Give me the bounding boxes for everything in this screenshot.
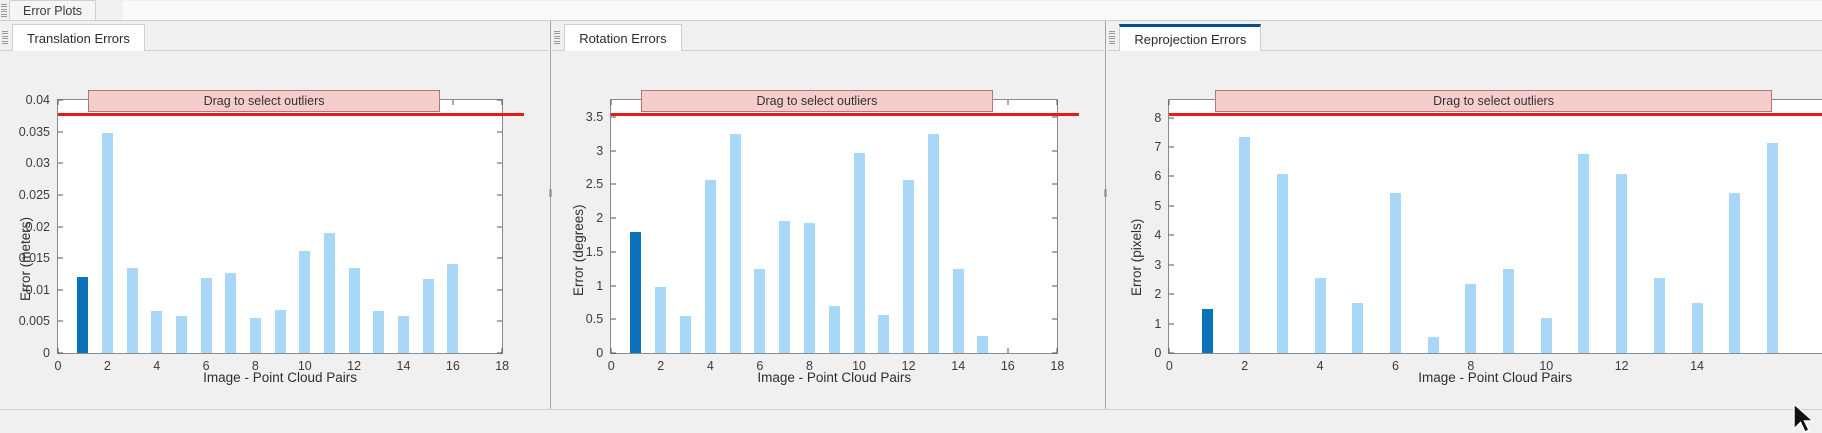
bar[interactable] — [423, 279, 434, 353]
bar[interactable] — [151, 311, 162, 353]
x-axis-label-translation: Image - Point Cloud Pairs — [57, 370, 503, 385]
bar[interactable] — [680, 316, 691, 353]
outlier-selector-band[interactable]: Drag to select outliers — [1215, 90, 1773, 112]
y-axis-tick-label: 0.03 — [26, 156, 58, 170]
outlier-selector-band[interactable]: Drag to select outliers — [88, 90, 441, 112]
outer-tab-empty-area — [123, 1, 1822, 22]
x-axis-tick-label: 12 — [902, 353, 916, 373]
y-axis-tick-label: 3.5 — [586, 110, 611, 124]
y-axis-tick-label: 0.035 — [19, 125, 58, 139]
bar[interactable] — [1654, 278, 1665, 353]
bar[interactable] — [1202, 309, 1213, 353]
tab-rotation-errors[interactable]: Rotation Errors — [564, 24, 681, 51]
tab-error-plots[interactable]: Error Plots — [9, 0, 96, 21]
bar-series — [58, 100, 502, 353]
bar[interactable] — [275, 310, 286, 353]
bar-series — [1169, 100, 1822, 353]
x-axis-tick-label: 6 — [1392, 353, 1399, 373]
y-axis-tick-label: 1 — [596, 279, 611, 293]
plot-area-reprojection[interactable]: 01234567802468101214Drag to select outli… — [1169, 100, 1822, 353]
bar[interactable] — [829, 306, 840, 353]
y-axis-tick-label: 7 — [1154, 140, 1169, 154]
bar[interactable] — [804, 223, 815, 353]
bar[interactable] — [1277, 174, 1288, 353]
outlier-threshold-line[interactable] — [611, 113, 1079, 116]
outlier-threshold-line[interactable] — [1169, 113, 1822, 116]
y-axis-tick-label: 0.5 — [586, 312, 611, 326]
bar[interactable] — [102, 133, 113, 353]
bar[interactable] — [250, 318, 261, 353]
bar[interactable] — [730, 134, 741, 353]
panel-2-drag-grip-icon[interactable] — [554, 31, 560, 44]
x-axis-tick-label: 6 — [756, 353, 763, 373]
bar[interactable] — [903, 180, 914, 353]
bar-series — [611, 100, 1057, 353]
y-axis-tick-label: 0.02 — [26, 220, 58, 234]
x-axis-tick-label: 10 — [852, 353, 866, 373]
bar[interactable] — [1692, 303, 1703, 353]
bar[interactable] — [299, 251, 310, 353]
x-axis-tick-label: 8 — [252, 353, 259, 373]
panel-1-tab-bar: Translation Errors — [0, 21, 549, 51]
tab-reprojection-errors[interactable]: Reprojection Errors — [1119, 24, 1261, 51]
tab-translation-errors-label: Translation Errors — [27, 31, 130, 46]
outlier-threshold-line[interactable] — [58, 113, 524, 116]
panel-drag-grip-icon[interactable] — [1, 4, 7, 17]
y-axis-label-rotation: Error (degrees) — [571, 204, 586, 296]
bar[interactable] — [1465, 284, 1476, 353]
panel-2-tab-bar: Rotation Errors — [552, 21, 1104, 51]
tab-rotation-errors-label: Rotation Errors — [579, 31, 666, 46]
outlier-selector-label: Drag to select outliers — [1433, 94, 1554, 108]
bar[interactable] — [854, 153, 865, 353]
x-axis-tick-label: 4 — [1317, 353, 1324, 373]
bar[interactable] — [655, 287, 666, 353]
x-axis-tick-label: 10 — [298, 353, 312, 373]
bar[interactable] — [447, 264, 458, 353]
y-axis-tick-label: 1 — [1154, 317, 1169, 331]
y-axis-tick-label: 0.01 — [26, 283, 58, 297]
panel-3-drag-grip-icon[interactable] — [1109, 31, 1115, 44]
y-axis-tick-label: 1.5 — [586, 245, 611, 259]
x-axis-tick-label: 14 — [397, 353, 411, 373]
y-axis-tick-label: 2 — [1154, 287, 1169, 301]
x-axis-tick-label: 16 — [446, 353, 460, 373]
panel-3-tab-bar: Reprojection Errors — [1107, 21, 1822, 51]
bar[interactable] — [225, 273, 236, 353]
x-axis-tick-label: 12 — [1615, 353, 1629, 373]
x-axis-tick-label: 0 — [55, 353, 62, 373]
bar[interactable] — [127, 268, 138, 353]
panel-1-drag-grip-icon[interactable] — [2, 31, 8, 44]
x-axis-tick-label: 2 — [1241, 353, 1248, 373]
x-axis-tick-label: 8 — [806, 353, 813, 373]
y-axis-tick-label: 0.005 — [19, 314, 58, 328]
x-axis-tick-label: 14 — [951, 353, 965, 373]
bar[interactable] — [977, 336, 988, 353]
bar[interactable] — [1239, 137, 1250, 353]
x-axis-tick-label: 14 — [1690, 353, 1704, 373]
bar[interactable] — [1767, 143, 1778, 353]
error-plots-window: Error Plots Translation Errors Error (me… — [0, 0, 1822, 430]
bar[interactable] — [201, 278, 212, 353]
bar[interactable] — [324, 233, 335, 353]
outlier-selector-label: Drag to select outliers — [204, 94, 325, 108]
x-axis-tick-label: 0 — [1166, 353, 1173, 373]
y-axis-tick-label: 3 — [1154, 258, 1169, 272]
bar[interactable] — [1729, 193, 1740, 353]
bar[interactable] — [878, 315, 889, 353]
figure-translation-errors: Error (meters) Image - Point Cloud Pairs… — [0, 51, 549, 409]
bar[interactable] — [1541, 318, 1552, 353]
bar[interactable] — [630, 232, 641, 353]
panel-translation-errors: Translation Errors Error (meters) Image … — [0, 21, 549, 409]
bar[interactable] — [373, 311, 384, 353]
bar[interactable] — [1390, 193, 1401, 353]
panel-rotation-errors: Rotation Errors Error (degrees) Image - … — [552, 21, 1104, 409]
bar[interactable] — [754, 269, 765, 353]
y-axis-label-reprojection: Error (pixels) — [1129, 219, 1144, 296]
x-axis-tick-label: 2 — [657, 353, 664, 373]
y-axis-tick-label: 0.04 — [26, 93, 58, 107]
bar[interactable] — [77, 277, 88, 353]
x-axis-label-reprojection: Image - Point Cloud Pairs — [1168, 370, 1822, 385]
x-axis-tick-label: 10 — [1539, 353, 1553, 373]
x-axis-tick-label: 8 — [1467, 353, 1474, 373]
bar[interactable] — [1428, 337, 1439, 353]
x-axis-tick-label: 4 — [153, 353, 160, 373]
bar[interactable] — [1503, 269, 1514, 353]
x-axis-tick-label: 6 — [203, 353, 210, 373]
figure-reprojection-errors: Error (pixels) Image - Point Cloud Pairs… — [1107, 51, 1822, 409]
figure-rotation-errors: Error (degrees) Image - Point Cloud Pair… — [552, 51, 1104, 409]
panel-reprojection-errors: Reprojection Errors Error (pixels) Image… — [1107, 21, 1822, 409]
x-axis-tick-label: 4 — [707, 353, 714, 373]
y-axis-tick-label: 2.5 — [586, 177, 611, 191]
y-axis-tick-label: 2 — [596, 211, 611, 225]
x-axis-tick-label: 16 — [1001, 353, 1015, 373]
bar[interactable] — [398, 316, 409, 353]
tab-translation-errors[interactable]: Translation Errors — [12, 24, 145, 51]
y-axis-tick-label: 0.015 — [19, 251, 58, 265]
y-axis-tick-label: 3 — [596, 144, 611, 158]
bar[interactable] — [1315, 278, 1326, 353]
y-axis-tick-label: 0.025 — [19, 188, 58, 202]
bar[interactable] — [705, 180, 716, 353]
axes-reprojection[interactable]: 01234567802468101214Drag to select outli… — [1168, 99, 1822, 354]
x-axis-tick-label: 0 — [608, 353, 615, 373]
bar[interactable] — [928, 134, 939, 353]
axes-rotation[interactable]: 00.511.522.533.5024681012141618Drag to s… — [610, 99, 1058, 354]
outer-tab-bar: Error Plots — [0, 0, 1822, 21]
y-axis-tick-label: 6 — [1154, 169, 1169, 183]
y-axis-tick-label: 8 — [1154, 111, 1169, 125]
x-axis-tick-label: 2 — [104, 353, 111, 373]
x-axis-tick-label: 12 — [347, 353, 361, 373]
y-axis-tick-label: 5 — [1154, 199, 1169, 213]
bar[interactable] — [1616, 174, 1627, 353]
axes-translation[interactable]: 00.0050.010.0150.020.0250.030.0350.04024… — [57, 99, 503, 354]
plot-panels-container: Translation Errors Error (meters) Image … — [0, 21, 1822, 409]
tab-error-plots-label: Error Plots — [23, 4, 82, 18]
tab-reprojection-errors-label: Reprojection Errors — [1134, 32, 1246, 47]
bar[interactable] — [953, 269, 964, 353]
bar[interactable] — [349, 268, 360, 353]
plot-area-translation[interactable]: 00.0050.010.0150.020.0250.030.0350.04024… — [58, 100, 502, 353]
bar[interactable] — [1352, 303, 1363, 353]
bar[interactable] — [1578, 154, 1589, 353]
plot-area-rotation[interactable]: 00.511.522.533.5024681012141618Drag to s… — [611, 100, 1057, 353]
outlier-selector-band[interactable]: Drag to select outliers — [641, 90, 993, 112]
status-bar — [0, 409, 1822, 431]
outlier-selector-label: Drag to select outliers — [756, 94, 877, 108]
x-axis-label-rotation: Image - Point Cloud Pairs — [610, 370, 1058, 385]
x-axis-tick-label: 18 — [1050, 353, 1064, 373]
y-axis-tick-label: 4 — [1154, 228, 1169, 242]
bar[interactable] — [176, 316, 187, 353]
x-axis-tick-label: 18 — [495, 353, 509, 373]
resize-cursor-icon — [1792, 403, 1818, 433]
bar[interactable] — [779, 221, 790, 353]
